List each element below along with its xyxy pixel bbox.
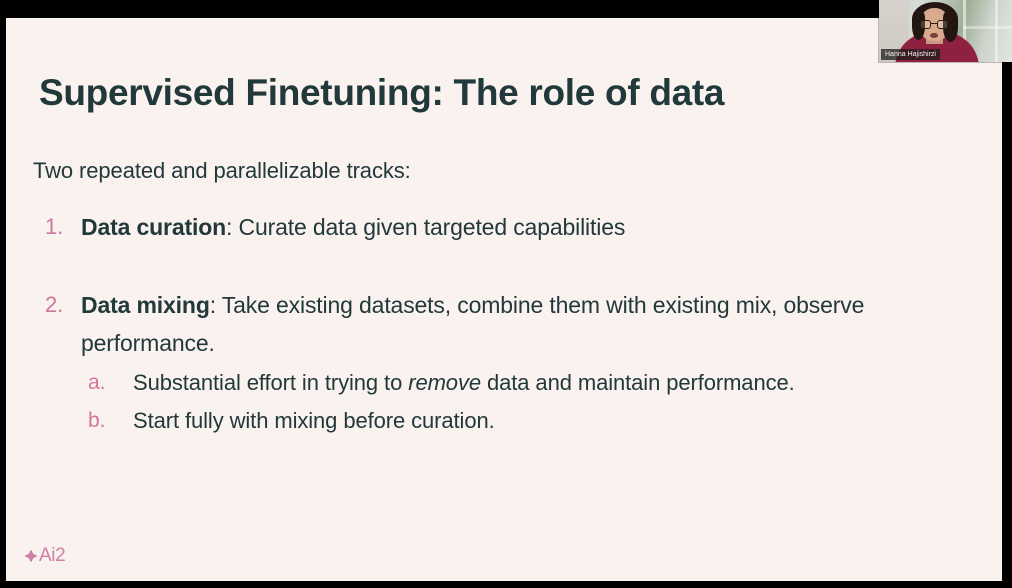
list-item-lead-term: Data mixing bbox=[81, 292, 210, 318]
sub-list-item-text: Substantial effort in trying to remove d… bbox=[133, 364, 982, 402]
page-title: Supervised Finetuning: The role of data bbox=[39, 72, 724, 114]
window-frame-icon bbox=[963, 26, 1012, 29]
eyeglasses-icon bbox=[920, 20, 949, 29]
ai2-wordmark: Ai2 bbox=[39, 545, 65, 567]
sub-list-marker-a: a. bbox=[81, 364, 133, 402]
list-marker-1: 1. bbox=[33, 208, 81, 246]
participant-name-label: Hanna Hajishirzi bbox=[881, 49, 940, 60]
lens-right bbox=[937, 20, 948, 29]
sub-list: a. Substantial effort in trying to remov… bbox=[33, 364, 982, 440]
window-frame-icon bbox=[995, 0, 998, 62]
list-item: 2. Data mixing: Take existing datasets, … bbox=[33, 286, 982, 362]
sub-list-item: a. Substantial effort in trying to remov… bbox=[81, 364, 982, 402]
presentation-slide: Supervised Finetuning: The role of data … bbox=[6, 18, 1002, 581]
lead-paragraph: Two repeated and parallelizable tracks: bbox=[33, 156, 982, 186]
sub-item-text-post: data and maintain performance. bbox=[481, 370, 795, 395]
sub-item-text-pre: Start fully with mixing before curation. bbox=[133, 408, 495, 433]
four-petal-clover-icon bbox=[24, 549, 38, 563]
list-item-text: Data curation: Curate data given targete… bbox=[81, 208, 982, 246]
screen-root: Supervised Finetuning: The role of data … bbox=[0, 0, 1012, 588]
list-item-body: : Curate data given targeted capabilitie… bbox=[226, 214, 625, 240]
list-item: 1. Data curation: Curate data given targ… bbox=[33, 208, 982, 246]
sub-list-item-text: Start fully with mixing before curation. bbox=[133, 402, 982, 440]
ai2-logo: Ai2 bbox=[24, 545, 65, 567]
sub-item-text-pre: Substantial effort in trying to bbox=[133, 370, 408, 395]
lens-left bbox=[920, 20, 931, 29]
list-spacer bbox=[33, 246, 982, 286]
sub-list-marker-b: b. bbox=[81, 402, 133, 440]
slide-body: Two repeated and parallelizable tracks: … bbox=[33, 156, 982, 440]
list-marker-2: 2. bbox=[33, 286, 81, 324]
sub-list-item: b. Start fully with mixing before curati… bbox=[81, 402, 982, 440]
webcam-video-tile[interactable]: Hanna Hajishirzi bbox=[879, 0, 1012, 62]
participant-mouth bbox=[930, 33, 938, 38]
sub-item-emphasis: remove bbox=[408, 370, 481, 395]
list-item-text: Data mixing: Take existing datasets, com… bbox=[81, 286, 982, 362]
list-item-lead-term: Data curation bbox=[81, 214, 226, 240]
